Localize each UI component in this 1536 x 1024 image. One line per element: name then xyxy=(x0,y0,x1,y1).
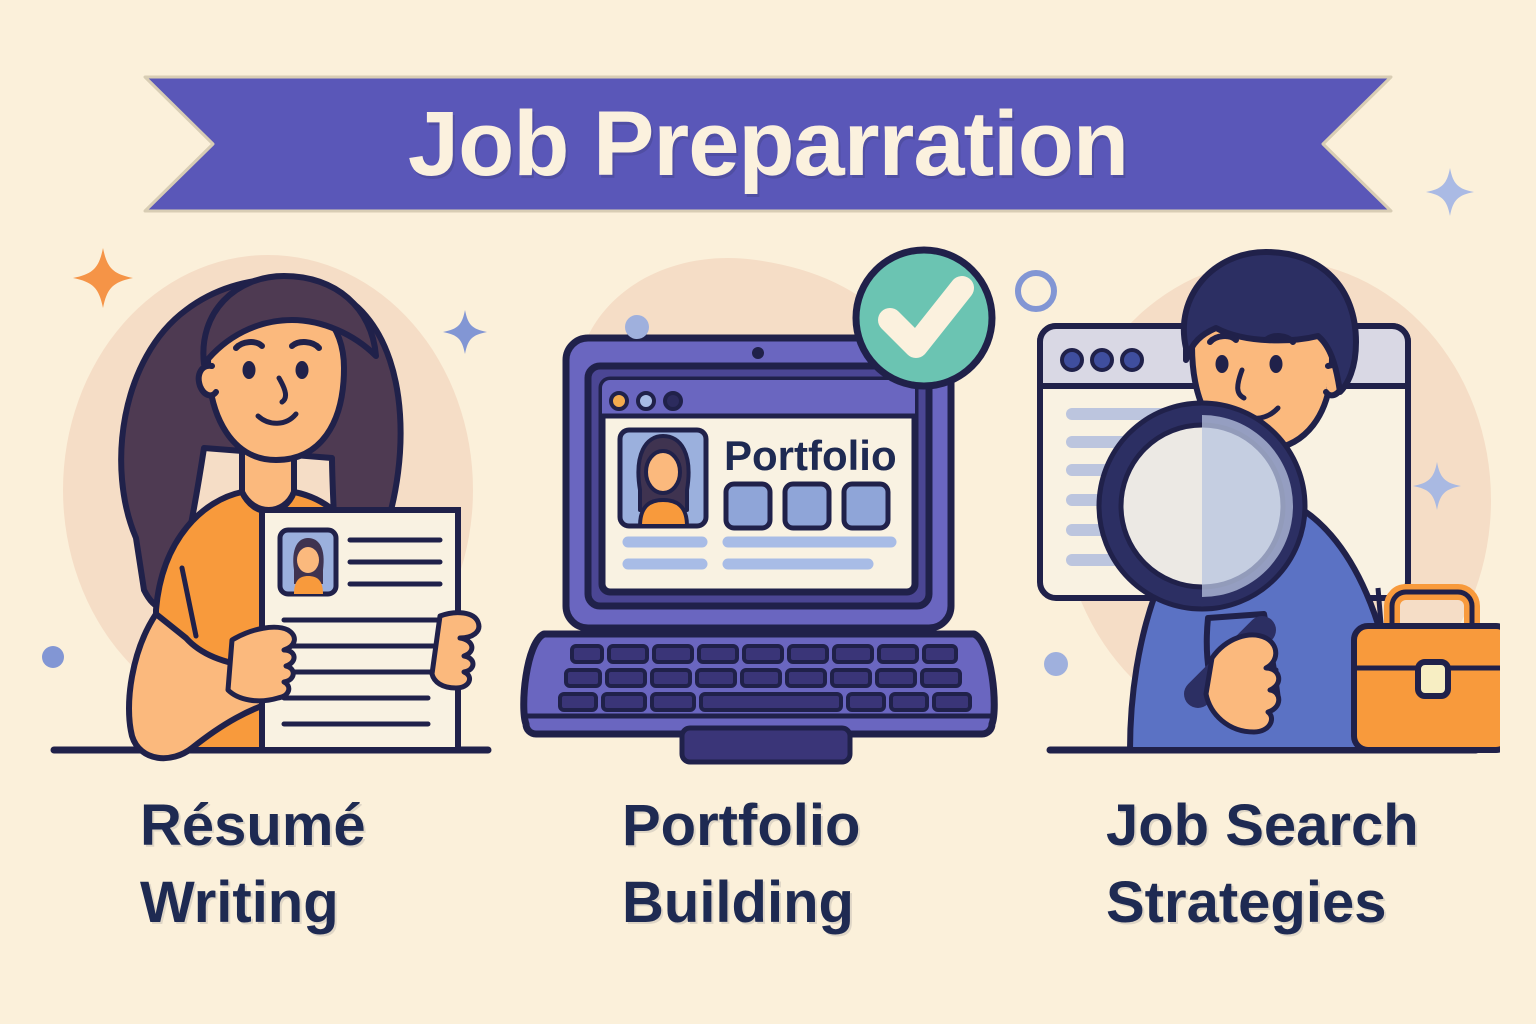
caption-portfolio-building: Portfolio Building xyxy=(622,788,860,941)
infographic-canvas: Job Preparration xyxy=(0,0,1536,1024)
dot-blue-left-icon xyxy=(42,646,64,668)
sparkle-blue-small-icon xyxy=(443,310,487,354)
caption-line-1: Job Search xyxy=(1106,788,1419,865)
dot-blue-mid-icon xyxy=(625,315,649,339)
sparkle-blue-top-right-icon xyxy=(1426,168,1474,216)
caption-resume-writing: Résumé Writing xyxy=(140,788,366,941)
sparkle-blue-right-icon xyxy=(1413,462,1461,510)
dot-blue-right-icon xyxy=(1044,652,1068,676)
caption-line-2: Strategies xyxy=(1106,865,1419,942)
caption-line-1: Résumé xyxy=(140,788,366,865)
caption-job-search-strategies: Job Search Strategies xyxy=(1106,788,1419,941)
sparkle-orange-icon xyxy=(73,248,133,308)
caption-line-2: Writing xyxy=(140,865,366,942)
caption-line-2: Building xyxy=(622,865,860,942)
ring-blue-icon xyxy=(1018,273,1054,309)
caption-line-1: Portfolio xyxy=(622,788,860,865)
